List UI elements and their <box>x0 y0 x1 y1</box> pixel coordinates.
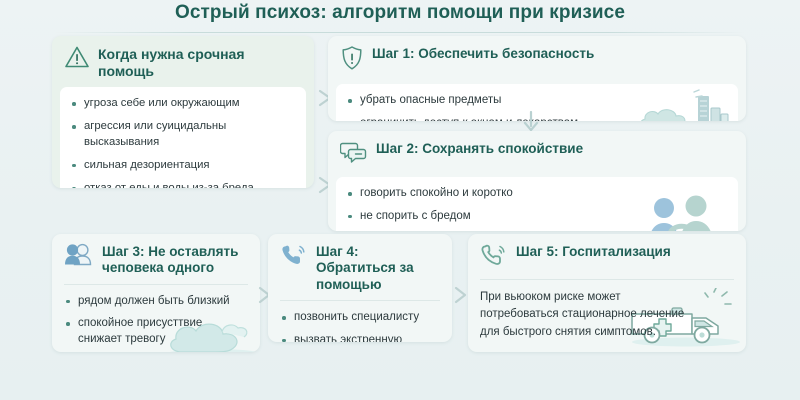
step5-card: Шаг 5: Госпитализация При вьюоком риске … <box>468 234 746 352</box>
list-item: агрессия или суицидальны высказывания <box>70 119 296 150</box>
step3-title: Шаг 3: Не оставлять чеповека одного <box>102 243 248 277</box>
alert-panel-list: угроза себе или окружающим агрессия или … <box>70 96 296 188</box>
step3-header: Шаг 3: Не оставлять чеповека одного <box>52 234 260 284</box>
step5-paragraph: При вьюоком риске может потребоваться ст… <box>480 289 685 341</box>
step4-card: Шаг 4: Обратиться за помощью позвонить с… <box>268 234 452 342</box>
list-item: говорить спокойно и коротко <box>346 186 728 202</box>
step5-header: Шаг 5: Госпитализация <box>468 234 746 279</box>
step1-card: Шаг 1: Обеспечить безопасность убрать оп… <box>328 36 746 121</box>
step1-title: Шаг 1: Обеспечить безопасность <box>372 45 594 62</box>
step2-header: Шаг 2: Сохранять спокойствие <box>328 131 746 176</box>
step5-body: При вьюоком риске может потребоваться ст… <box>468 280 746 351</box>
infographic-stage: Острый психоз: алгоритм помощи при кризи… <box>0 0 800 400</box>
list-item: спокойное присусттвие снижает тревогу <box>64 316 248 347</box>
alert-panel-body: угроза себе или окружающим агрессия или … <box>60 87 306 188</box>
step2-card: Шаг 2: Сохранять спокойствие говорить сп… <box>328 131 746 231</box>
list-item: вызвать экстренную помощь <box>280 333 440 342</box>
step5-title: Шаг 5: Госпитализация <box>516 243 671 260</box>
list-item: позвонить специалисту <box>280 310 440 326</box>
shield-exclamation-icon <box>340 45 364 76</box>
list-item: не спорить с бредом <box>346 209 728 225</box>
step4-header: Шаг 4: Обратиться за помощью <box>268 234 452 300</box>
step2-title: Шаг 2: Сохранять спокойствие <box>376 140 583 157</box>
step4-title: Шаг 4: Обратиться за помощью <box>316 243 440 293</box>
speech-bubbles-icon <box>340 140 368 169</box>
step1-header: Шаг 1: Обеспечить безопасность <box>328 36 746 83</box>
list-item: убрать опасные предметы <box>346 93 728 109</box>
step4-list: позвонить специалисту вызвать экстренную… <box>280 310 440 342</box>
step3-card: Шаг 3: Не оставлять чеповека одного рядо… <box>52 234 260 352</box>
step3-body: рядом должен быть близкий спокойное прис… <box>52 285 260 352</box>
step3-list: рядом должен быть близкий спокойное прис… <box>64 294 248 348</box>
step4-body: позвонить специалисту вызвать экстренную… <box>268 301 452 342</box>
list-item: рядом должен быть близкий <box>64 294 248 310</box>
two-persons-icon <box>64 243 94 272</box>
list-item: угроза себе или окружающим <box>70 96 296 111</box>
title-divider <box>55 32 745 33</box>
alert-panel-header: Когда нужна срочная помощь <box>52 36 314 87</box>
step2-body: говорить спокойно и коротко не спорить с… <box>336 177 738 231</box>
phone-ringing-icon <box>280 243 308 272</box>
list-item: сильная дезориентация <box>70 158 296 173</box>
phone-ringing-icon <box>480 243 508 272</box>
warning-triangle-icon <box>64 45 90 74</box>
step2-list: говорить спокойно и коротко не спорить с… <box>346 186 728 231</box>
alert-panel: Когда нужна срочная помощь угроза себе и… <box>52 36 314 188</box>
alert-panel-title: Когда нужна срочная помощь <box>98 45 302 80</box>
page-title: Острый психоз: алгоритм помощи при кризи… <box>0 2 800 24</box>
list-item: отказ от еды и воды из-за бреда <box>70 181 296 188</box>
